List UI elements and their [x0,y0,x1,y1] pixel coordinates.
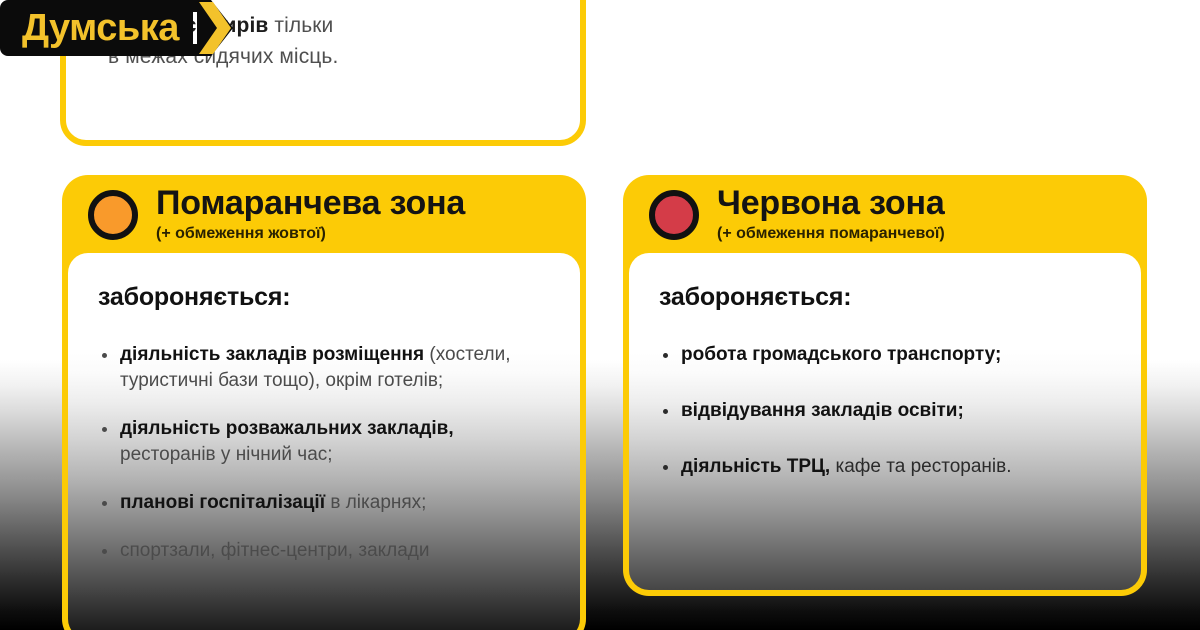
logo-plate: Думська [0,0,193,56]
list-item: діяльність ТРЦ, кафе та ресторанів. [659,454,1111,480]
zone-body-orange: забороняється: діяльність закладів розмі… [68,253,580,630]
list-item: робота громадського транспорту; [659,342,1111,368]
list-item-bold: робота громадського транспорту; [681,344,1001,365]
list-item: спортзали, фітнес-центри, заклади [98,538,550,564]
list-item-bold: діяльність ТРЦ, [681,456,830,477]
chevron-right-icon [193,0,235,56]
zone-body-title-orange: забороняється: [98,283,550,312]
zone-list-orange: діяльність закладів розміщення (хостели,… [98,342,550,564]
infographic-stage: …ня пасажирів тільки в межах сидячих міс… [0,0,1200,630]
zone-card-red: Червона зона (+ обмеження помаранчевої) … [623,175,1147,596]
orange-circle-icon [88,190,138,240]
list-item: планові госпіталізації в лікарнях; [98,490,550,516]
zone-list-red: робота громадського транспорту; відвідув… [659,342,1111,480]
list-item-bold: діяльність закладів розміщення [120,344,424,365]
zone-card-orange: Помаранчева зона (+ обмеження жовтої) за… [62,175,586,630]
list-item-rest: в лікарнях; [325,492,426,513]
zone-title-group-orange: Помаранчева зона (+ обмеження жовтої) [156,185,465,244]
list-item-rest: спортзали, фітнес-центри, заклади [120,540,430,561]
logo-text: Думська [22,8,179,48]
zone-header-orange: Помаранчева зона (+ обмеження жовтої) [62,175,586,253]
zone-title-orange: Помаранчева зона [156,185,465,221]
red-circle-icon [649,190,699,240]
zone-header-red: Червона зона (+ обмеження помаранчевої) [623,175,1147,253]
zone-body-red: забороняється: робота громадського транс… [629,253,1141,590]
list-item: відвідування закладів освіти; [659,398,1111,424]
zone-title-red: Червона зона [717,185,945,221]
list-item-rest: кафе та ресторанів. [830,456,1011,477]
zone-subtitle-orange: (+ обмеження жовтої) [156,224,465,244]
list-item-rest: ресторанів у нічний час; [120,444,333,465]
zone-subtitle-red: (+ обмеження помаранчевої) [717,224,945,244]
zone-body-title-red: забороняється: [659,283,1111,312]
list-item: діяльність закладів розміщення (хостели,… [98,342,550,394]
watermark-logo[interactable]: Думська [0,0,235,56]
list-item-bold: діяльність розважальних закладів, [120,418,454,439]
list-item: діяльність розважальних закладів, рестор… [98,416,550,468]
list-item-bold: відвідування закладів освіти; [681,400,964,421]
list-item-bold: планові госпіталізації [120,492,325,513]
top-rule-rest: тільки [268,14,333,37]
zone-title-group-red: Червона зона (+ обмеження помаранчевої) [717,185,945,244]
